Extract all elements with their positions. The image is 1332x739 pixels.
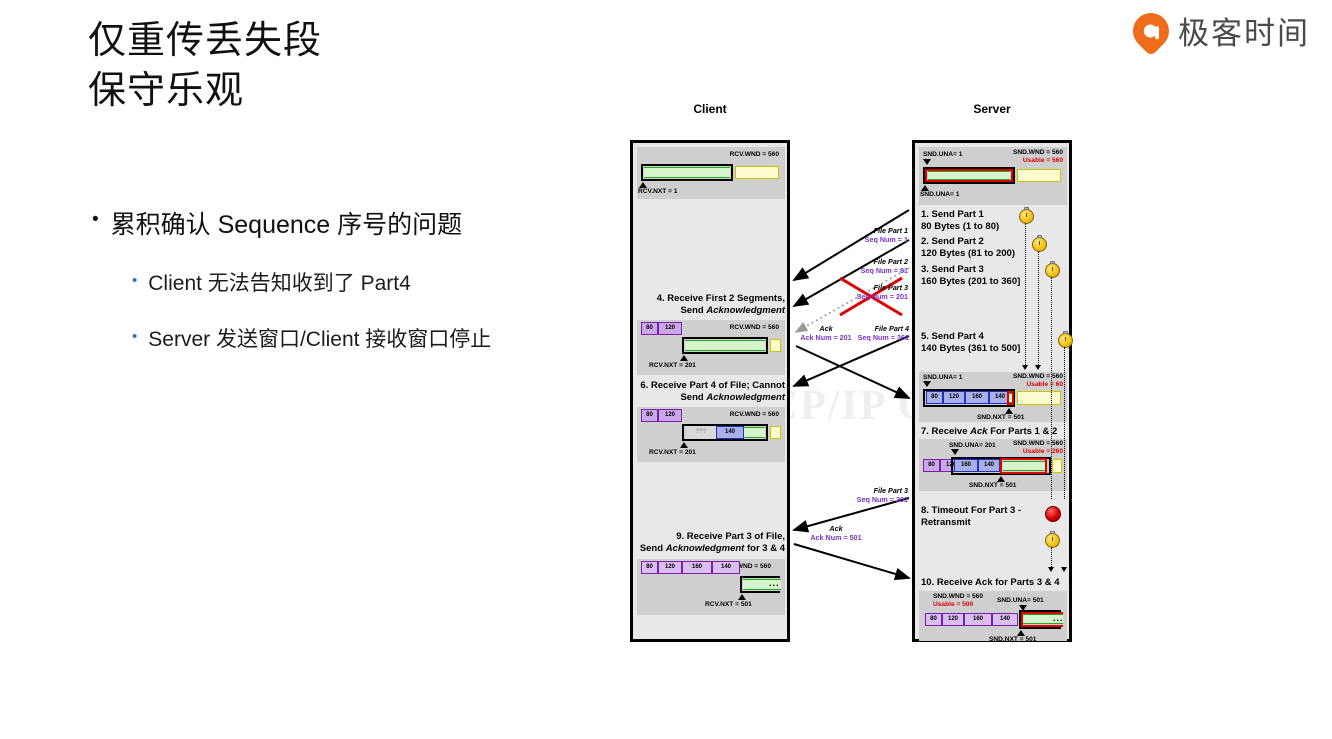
message-title: File Part 3 [812,283,908,292]
title-line-2: 保守乐观 [88,66,608,116]
server-step-5-line2: 140 Bytes (361 to 500] [921,343,1020,354]
client-state-final: RCV.WND = 560 80 120 160 140 ... RCV.NXT… [637,559,785,615]
client-step-9-line2-pre: Send [640,543,666,554]
server-state-final: SND.WND = 560 Usable = 500 SND.UNA= 501 … [919,591,1067,641]
message-title: Ack [796,524,876,533]
server-snd-una-marker-icon [923,159,931,165]
client-step-9-line1: 9. Receive Part 3 of File, [676,531,785,542]
message-label-file-part-3-lost: File Part 3 Seq Num = 201 [812,283,908,301]
server-step-1-text: 1. Send Part 1 80 Bytes (1 to 80) [921,209,999,232]
client-window-green [744,427,765,438]
server-step-5-line1: 5. Send Part 4 [921,331,984,342]
message-label-file-part-4: File Part 4 Seq Num = 361 [835,324,909,342]
message-subtitle: Seq Num = 201 [812,495,908,504]
server-segment-160: 160 [954,459,978,472]
timer-clock-icon-1 [1019,209,1034,224]
timer-clock-icon-2 [1032,237,1047,252]
message-title: File Part 1 [812,226,908,235]
server-snd-una-label-bottom: SND.UNA= 1 [920,191,959,198]
client-state-initial: RCV.WND = 560 RCV.NXT = 1 [637,147,785,199]
client-rcv-nxt-marker-icon [680,442,688,448]
client-rcv-nxt-marker-icon [680,355,688,361]
timer-dotted-line-2 [1038,251,1039,365]
client-segment-120: 120 [658,409,682,422]
bullet-list: • 累积确认 Sequence 序号的问题 • Client 无法告知收到了 P… [92,205,612,379]
server-window-green [928,171,1010,180]
server-usable-label: Usable = 260 [1023,448,1063,455]
timeout-alert-icon [1045,506,1061,522]
client-step-4-line2-em: Acknowledgment [706,305,785,316]
geek-pin-logo-icon [1126,5,1177,56]
client-window-green [644,167,730,178]
client-step-6-line1: 6. Receive Part 4 of File; Cannot [640,380,785,391]
client-column-title: Client [630,102,790,116]
server-state-after-send-all: SND.UNA= 1 SND.WND = 560 Usable = 60 80 … [919,372,1067,422]
bullet-dot-icon: • [132,323,137,351]
brand-logo: 极客时间 [1133,8,1310,53]
server-step-7-text: 7. Receive Ack For Parts 1 & 2 [921,426,1057,438]
server-window-green [1009,393,1012,403]
server-usable-label: Usable = 500 [933,601,973,608]
server-step-8-line1: 8. Timeout For Part 3 - [921,505,1021,516]
client-step-9-line2-em: Acknowledgment [666,543,745,554]
message-subtitle: Ack Num = 501 [796,533,876,542]
message-title: File Part 3 [812,486,908,495]
client-window-unused [770,339,781,352]
client-window-ellipsis: ... [769,578,780,588]
client-step-6-text: 6. Receive Part 4 of File; Cannot Send A… [637,380,785,403]
server-window-green [1003,461,1045,471]
server-segment-140: 140 [992,613,1018,626]
server-segment-80: 80 [926,391,943,404]
client-window-unused [735,166,779,179]
client-rcv-nxt-label: RCV.NXT = 501 [705,601,752,608]
brand-name: 极客时间 [1178,8,1310,53]
timer-dotted-line-3 [1051,277,1052,499]
timer-clock-icon-3 [1045,263,1060,278]
server-step-7-pre: 7. Receive [921,426,970,437]
server-column-title: Server [912,102,1072,116]
server-window-ellipsis: ... [1053,613,1064,623]
client-step-6-line2-em: Acknowledgment [706,392,785,403]
client-rcv-wnd-label: RCV.WND = 560 [730,151,779,158]
timer-arrow-icon-1 [1022,365,1028,370]
server-step-2-text: 2. Send Part 2 120 Bytes (81 to 200) [921,236,1015,259]
server-usable-label: Usable = 60 [1027,381,1063,388]
tcp-sliding-window-diagram: The TCP/IP Guide Client Server RCV.WND =… [630,120,1090,642]
server-step-10-text: 10. Receive Ack for Parts 3 & 4 [921,577,1060,589]
server-step-10-line1: 10. Receive Ack for Parts 3 & 4 [921,577,1060,588]
timer-clock-icon-5 [1045,533,1060,548]
timer-clock-icon-4 [1058,333,1073,348]
client-step-4-line2-pre: Send [680,305,706,316]
server-step-1-line2: 80 Bytes (1 to 80) [921,221,999,232]
server-snd-una-label-top: SND.UNA= 1 [923,151,962,158]
client-segment-140: 140 [712,561,740,574]
client-step-4-text: 4. Receive First 2 Segments, Send Acknow… [637,293,785,316]
server-segment-80-acked: 80 [923,459,940,472]
server-snd-nxt-label: SND.NXT = 501 [989,636,1036,643]
timer-arrow-icon-3 [1048,567,1054,572]
message-label-file-part-3-retransmit: File Part 3 Seq Num = 201 [812,486,908,504]
server-snd-una-marker-icon [923,381,931,387]
client-panel: RCV.WND = 560 RCV.NXT = 1 4. Receive Fir… [630,140,790,642]
client-state-after-2-segments: RCV.WND = 560 80 120 RCV.NXT = 201 [637,320,785,375]
timer-dotted-line-4 [1064,347,1065,499]
server-snd-nxt-label: SND.NXT = 501 [977,414,1024,421]
message-label-file-part-1: File Part 1 Seq Num = 1 [812,226,908,244]
bullet-level2-1-text: Client 无法告知收到了 Part4 [148,267,411,297]
server-step-8-text: 8. Timeout For Part 3 - Retransmit [921,505,1021,528]
message-title: File Part 4 [835,324,909,333]
client-state-after-part4: RCV.WND = 560 80 120 ??? 140 RCV.NXT = 2… [637,407,785,462]
client-rcv-nxt-label: RCV.NXT = 201 [649,362,696,369]
message-label-file-part-2: File Part 2 Seq Num = 81 [812,257,908,275]
title-line-1: 仅重传丢失段 [88,16,608,66]
server-snd-wnd-label: SND.WND = 560 [1013,149,1063,156]
server-segment-160: 160 [965,391,989,404]
timer-arrow-icon-2 [1035,365,1041,370]
bullet-level1-text: 累积确认 Sequence 序号的问题 [111,205,463,241]
server-step-7-em: Ack [970,426,987,437]
server-snd-nxt-label: SND.NXT = 501 [969,482,1016,489]
client-segment-80: 80 [641,322,658,335]
server-segment-80: 80 [925,613,942,626]
bullet-level1: • 累积确认 Sequence 序号的问题 [92,205,612,241]
server-step-3-text: 3. Send Part 3 160 Bytes (201 to 360] [921,264,1020,287]
client-segment-160: 160 [682,561,712,574]
client-rcv-nxt-label: RCV.NXT = 201 [649,449,696,456]
client-window-unused [770,426,781,439]
server-step-3-line2: 160 Bytes (201 to 360] [921,276,1020,287]
server-snd-una-label: SND.UNA= 201 [949,442,996,449]
server-step-2-line2: 120 Bytes (81 to 200) [921,248,1015,259]
server-step-8-line2: Retransmit [921,517,971,528]
server-snd-wnd-label: SND.WND = 560 [933,593,983,600]
client-segment-120: 120 [658,561,682,574]
timer-arrow-icon-4 [1061,567,1067,572]
server-state-initial: SND.UNA= 1 SND.WND = 560 Usable = 560 SN… [919,147,1067,205]
server-snd-wnd-label: SND.WND = 560 [1013,373,1063,380]
server-snd-una-marker-icon [951,449,959,455]
server-step-3-line1: 3. Send Part 3 [921,264,984,275]
message-label-ack-501: Ack Ack Num = 501 [796,524,876,542]
client-step-4-line1: 4. Receive First 2 Segments, [657,293,785,304]
bullet-level2-1: • Client 无法告知收到了 Part4 [132,267,612,297]
server-segment-140: 140 [978,459,1000,472]
bullet-dot-icon: • [92,205,99,235]
client-rcv-wnd-label: RCV.WND = 560 [730,324,779,331]
client-step-9-text: 9. Receive Part 3 of File, Send Acknowle… [635,531,785,554]
client-window-green [685,340,765,351]
client-step-6-line2-pre: Send [680,392,706,403]
message-subtitle: Seq Num = 81 [812,266,908,275]
client-rcv-nxt-marker-icon [738,594,746,600]
server-step-5-text: 5. Send Part 4 140 Bytes (361 to 500] [921,331,1020,354]
client-rcv-wnd-label: RCV.WND = 560 [730,411,779,418]
server-window-unused [1052,459,1062,473]
message-title: File Part 2 [812,257,908,266]
timer-dotted-line-5 [1051,547,1052,569]
client-segment-80: 80 [641,409,658,422]
bullet-level2-2-text: Server 发送窗口/Client 接收窗口停止 [148,323,491,353]
client-segment-80: 80 [641,561,658,574]
server-state-after-ack-1-2: SND.UNA= 201 SND.WND = 560 Usable = 260 … [919,439,1067,491]
page-title: 仅重传丢失段 保守乐观 [88,16,608,116]
client-segment-missing: ??? [686,426,716,439]
server-step-7-post: For Parts 1 & 2 [988,426,1058,437]
server-segment-160: 160 [964,613,992,626]
server-snd-wnd-label: SND.WND = 560 [1013,440,1063,447]
timer-dotted-line-1 [1025,223,1026,365]
bullet-dot-icon: • [132,267,137,295]
client-rcv-nxt-label: RCV.NXT = 1 [638,188,678,195]
server-snd-una-label: SND.UNA= 1 [923,374,962,381]
server-snd-una-label: SND.UNA= 501 [997,597,1044,604]
server-step-2-line1: 2. Send Part 2 [921,236,984,247]
server-step-1-line1: 1. Send Part 1 [921,209,984,220]
server-window-unused [1017,169,1061,182]
server-window-unused [1017,391,1061,405]
server-usable-label: Usable = 560 [1023,157,1063,164]
client-segment-120: 120 [658,322,682,335]
message-arrows [790,140,912,642]
message-subtitle: Seq Num = 201 [812,292,908,301]
client-segment-140: 140 [716,426,744,439]
message-subtitle: Seq Num = 1 [812,235,908,244]
client-step-9-line2-post: for 3 & 4 [744,543,785,554]
server-segment-120: 120 [943,391,965,404]
bullet-level2-2: • Server 发送窗口/Client 接收窗口停止 [132,323,612,353]
server-segment-120: 120 [942,613,964,626]
message-subtitle: Seq Num = 361 [835,333,909,342]
server-panel: SND.UNA= 1 SND.WND = 560 Usable = 560 SN… [912,140,1072,642]
